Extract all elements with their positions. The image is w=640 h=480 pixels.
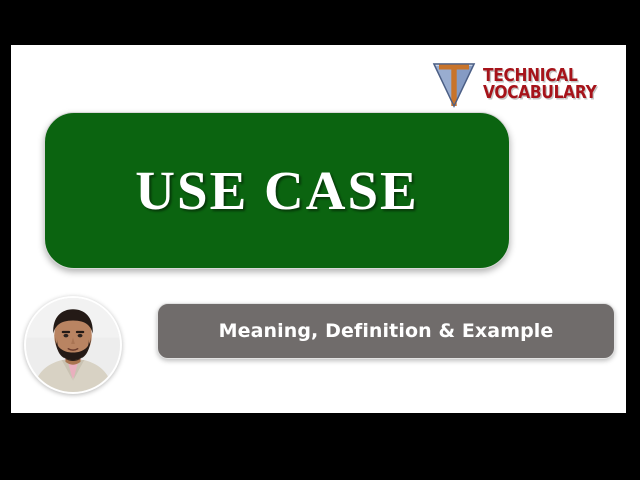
letterbox-top — [0, 0, 640, 45]
brand-line-2: VOCABULARY — [483, 85, 596, 102]
title-card: USE CASE — [44, 112, 510, 269]
slide-canvas: TECHNICAL VOCABULARY USE CASE — [11, 45, 626, 413]
subtitle-bar: Meaning, Definition & Example — [157, 303, 615, 359]
subtitle-text: Meaning, Definition & Example — [219, 320, 554, 342]
avatar — [24, 296, 122, 394]
page-title: USE CASE — [135, 159, 418, 222]
letterbox-left — [0, 0, 11, 480]
brand-logo: TECHNICAL VOCABULARY — [431, 60, 612, 110]
brand-wordmark: TECHNICAL VOCABULARY — [483, 68, 612, 102]
letterbox-right — [626, 0, 640, 480]
video-frame: TECHNICAL VOCABULARY USE CASE — [0, 0, 640, 480]
triangle-t-logo-icon — [431, 60, 477, 110]
letterbox-bottom — [0, 413, 640, 480]
